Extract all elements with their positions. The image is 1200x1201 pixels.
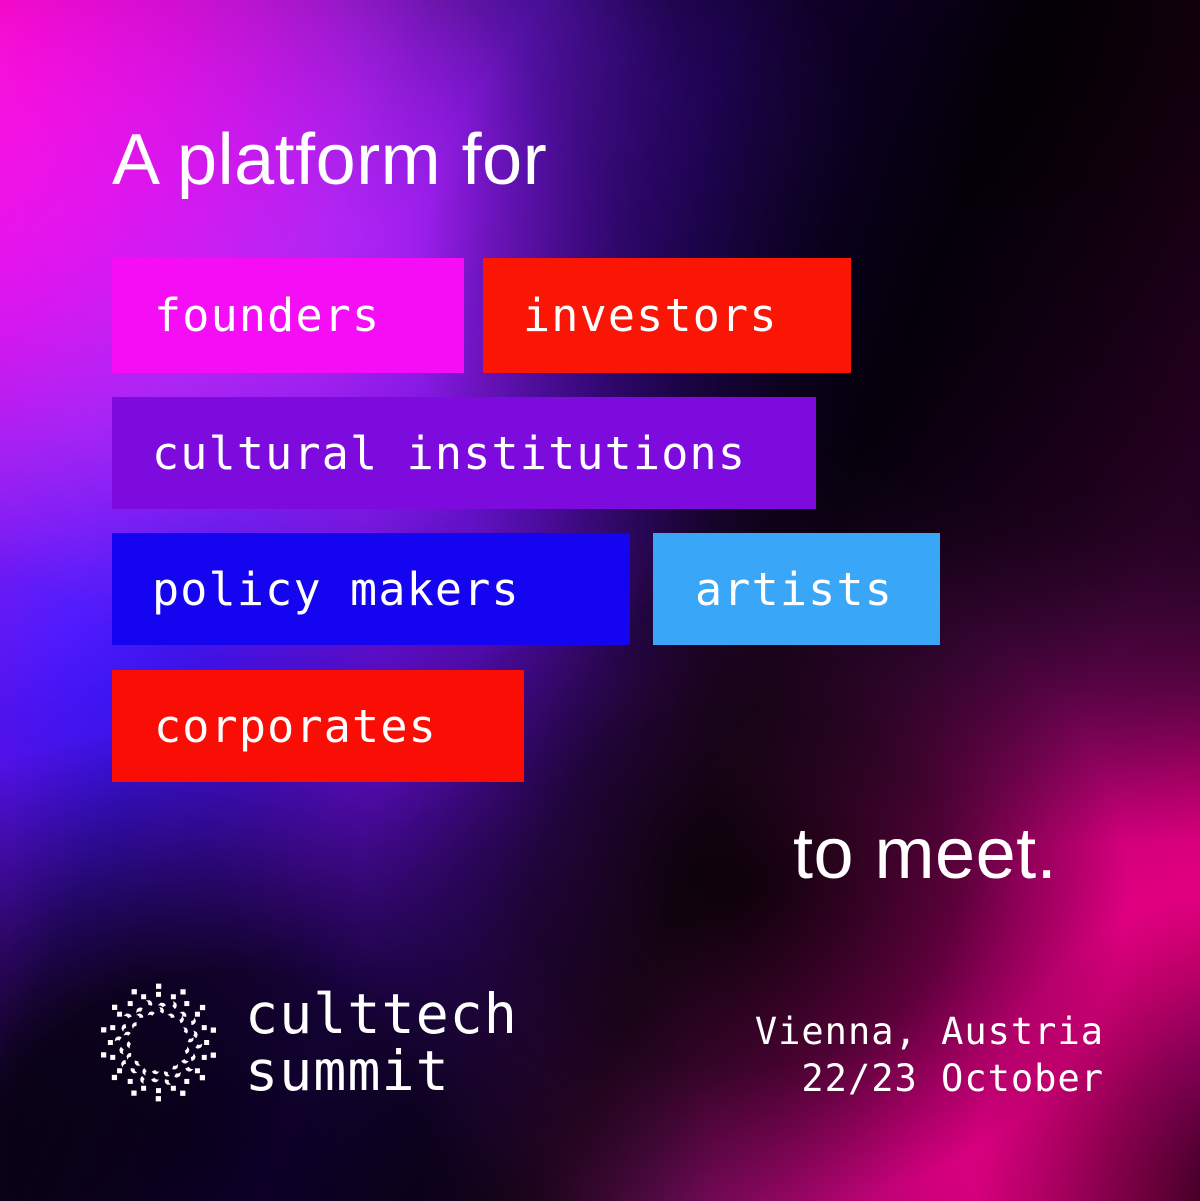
audience-tag-row-3: policy makers artists [112,533,940,645]
poster-content: A platform for founders investors cultur… [0,0,1200,1201]
brand-line-2: summit [245,1043,518,1099]
radial-burst-logo-icon [96,980,221,1105]
audience-tag-row-1: founders investors [112,258,851,373]
audience-tag-row-4: corporates [112,670,524,782]
audience-tag-label: cultural institutions [152,427,746,480]
tag-spacer [464,258,483,373]
audience-tag-cultural-institutions: cultural institutions [112,397,816,509]
headline-text: A platform for [112,124,547,196]
event-info: Vienna, Austria 22/23 October [755,1008,1104,1103]
event-dates: 22/23 October [755,1055,1104,1102]
audience-tag-row-2: cultural institutions [112,397,816,509]
audience-tag-policy-makers: policy makers [112,533,630,645]
audience-tag-label: artists [695,563,893,616]
brand-line-1: culttech [245,986,518,1042]
closing-text: to meet. [793,818,1057,890]
audience-tag-corporates: corporates [112,670,524,782]
audience-tag-label: policy makers [152,563,520,616]
brand-wordmark: culttech summit [245,986,518,1098]
tag-spacer [630,533,653,645]
audience-tag-label: founders [154,289,380,342]
audience-tag-label: investors [523,289,778,342]
audience-tag-artists: artists [653,533,940,645]
event-location: Vienna, Austria [755,1008,1104,1055]
audience-tag-label: corporates [154,700,437,753]
audience-tag-investors: investors [483,258,851,373]
poster-canvas: A platform for founders investors cultur… [0,0,1200,1201]
audience-tag-founders: founders [112,258,464,373]
brand-logo: culttech summit [96,980,518,1105]
